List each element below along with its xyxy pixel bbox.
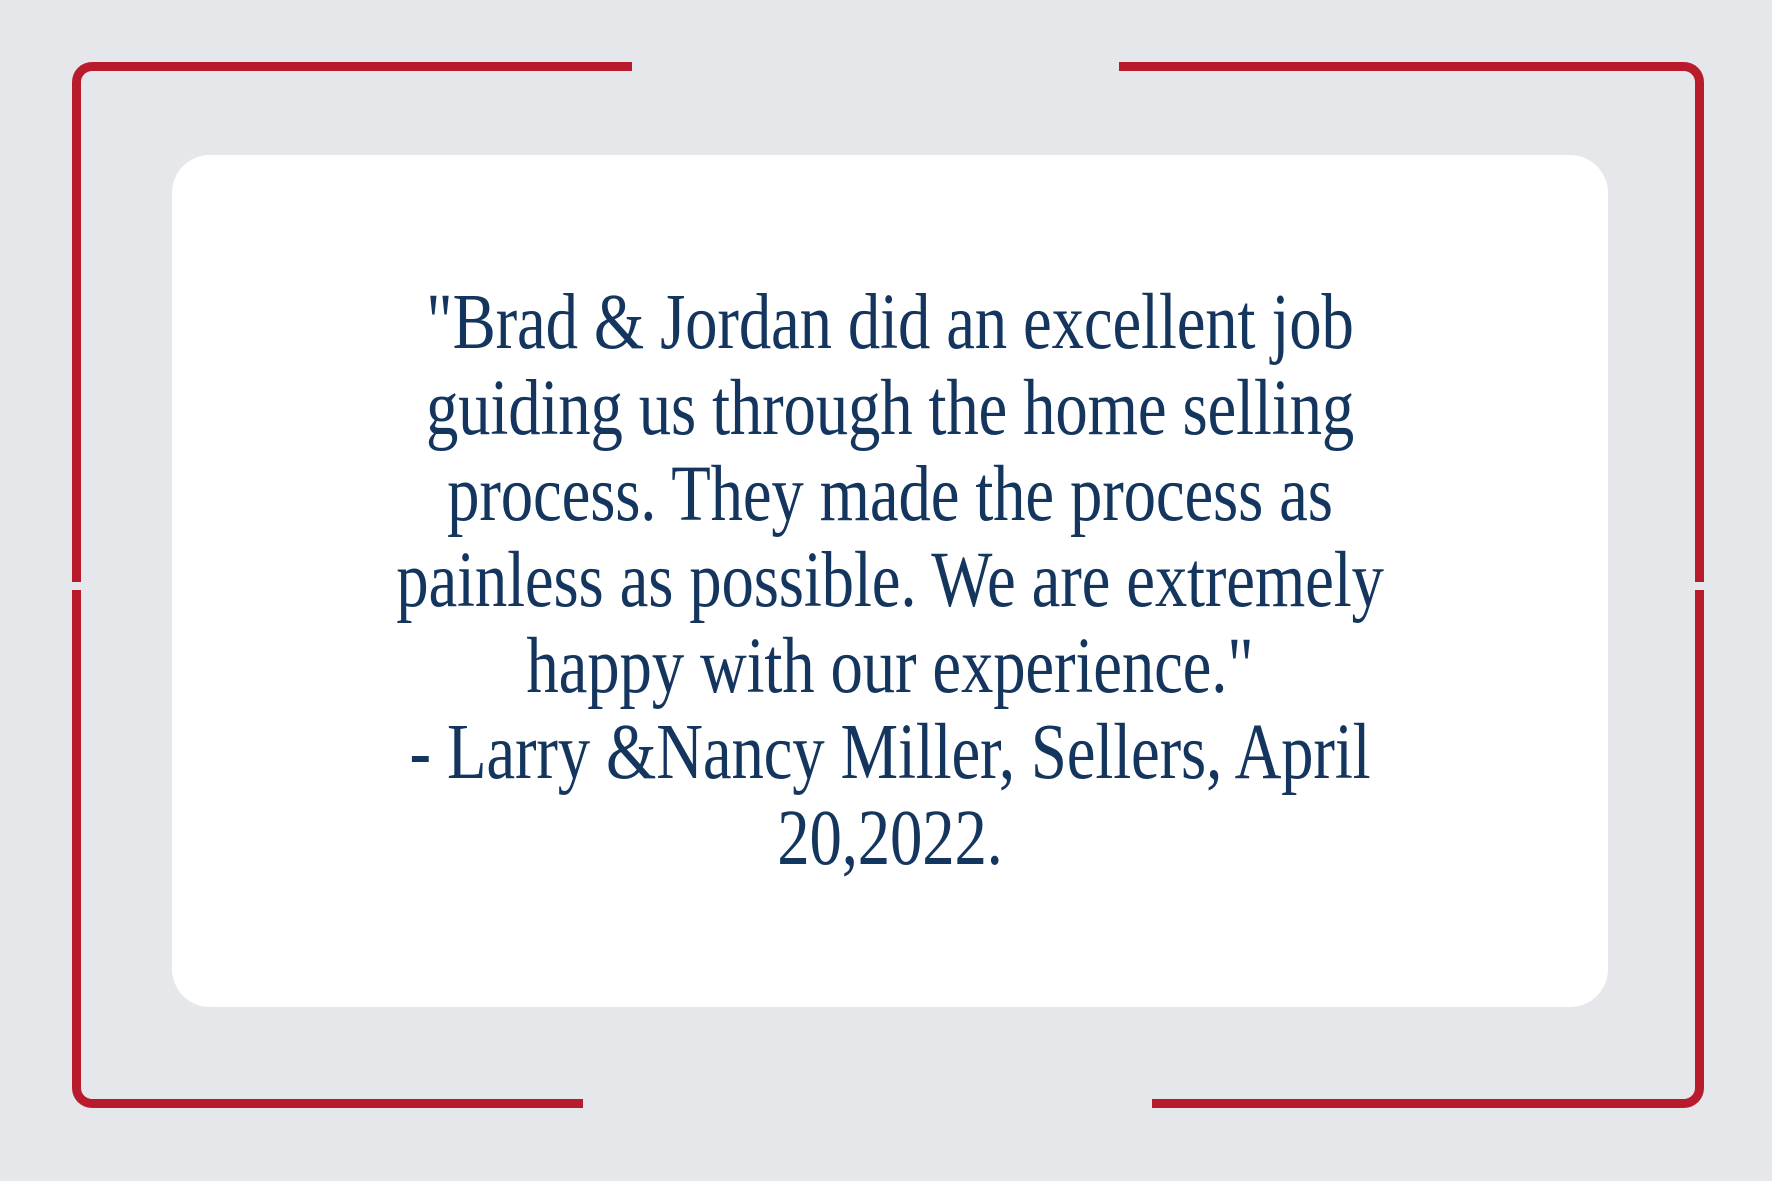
quote-line: guiding us through the home selling: [361, 366, 1419, 452]
testimonial-graphic: "Brad & Jordan did an excellent job guid…: [0, 0, 1772, 1181]
quote-line: process. They made the process as: [361, 452, 1419, 538]
testimonial-text-block: "Brad & Jordan did an excellent job guid…: [361, 280, 1419, 882]
attribution-line: - Larry &Nancy Miller, Sellers, April: [361, 710, 1419, 796]
quote-line: happy with our experience.": [361, 624, 1419, 710]
attribution-date-line: 20,2022.: [361, 796, 1419, 882]
quote-line: "Brad & Jordan did an excellent job: [361, 280, 1419, 366]
quote-line: painless as possible. We are extremely: [361, 538, 1419, 624]
testimonial-card: "Brad & Jordan did an excellent job guid…: [172, 155, 1608, 1007]
